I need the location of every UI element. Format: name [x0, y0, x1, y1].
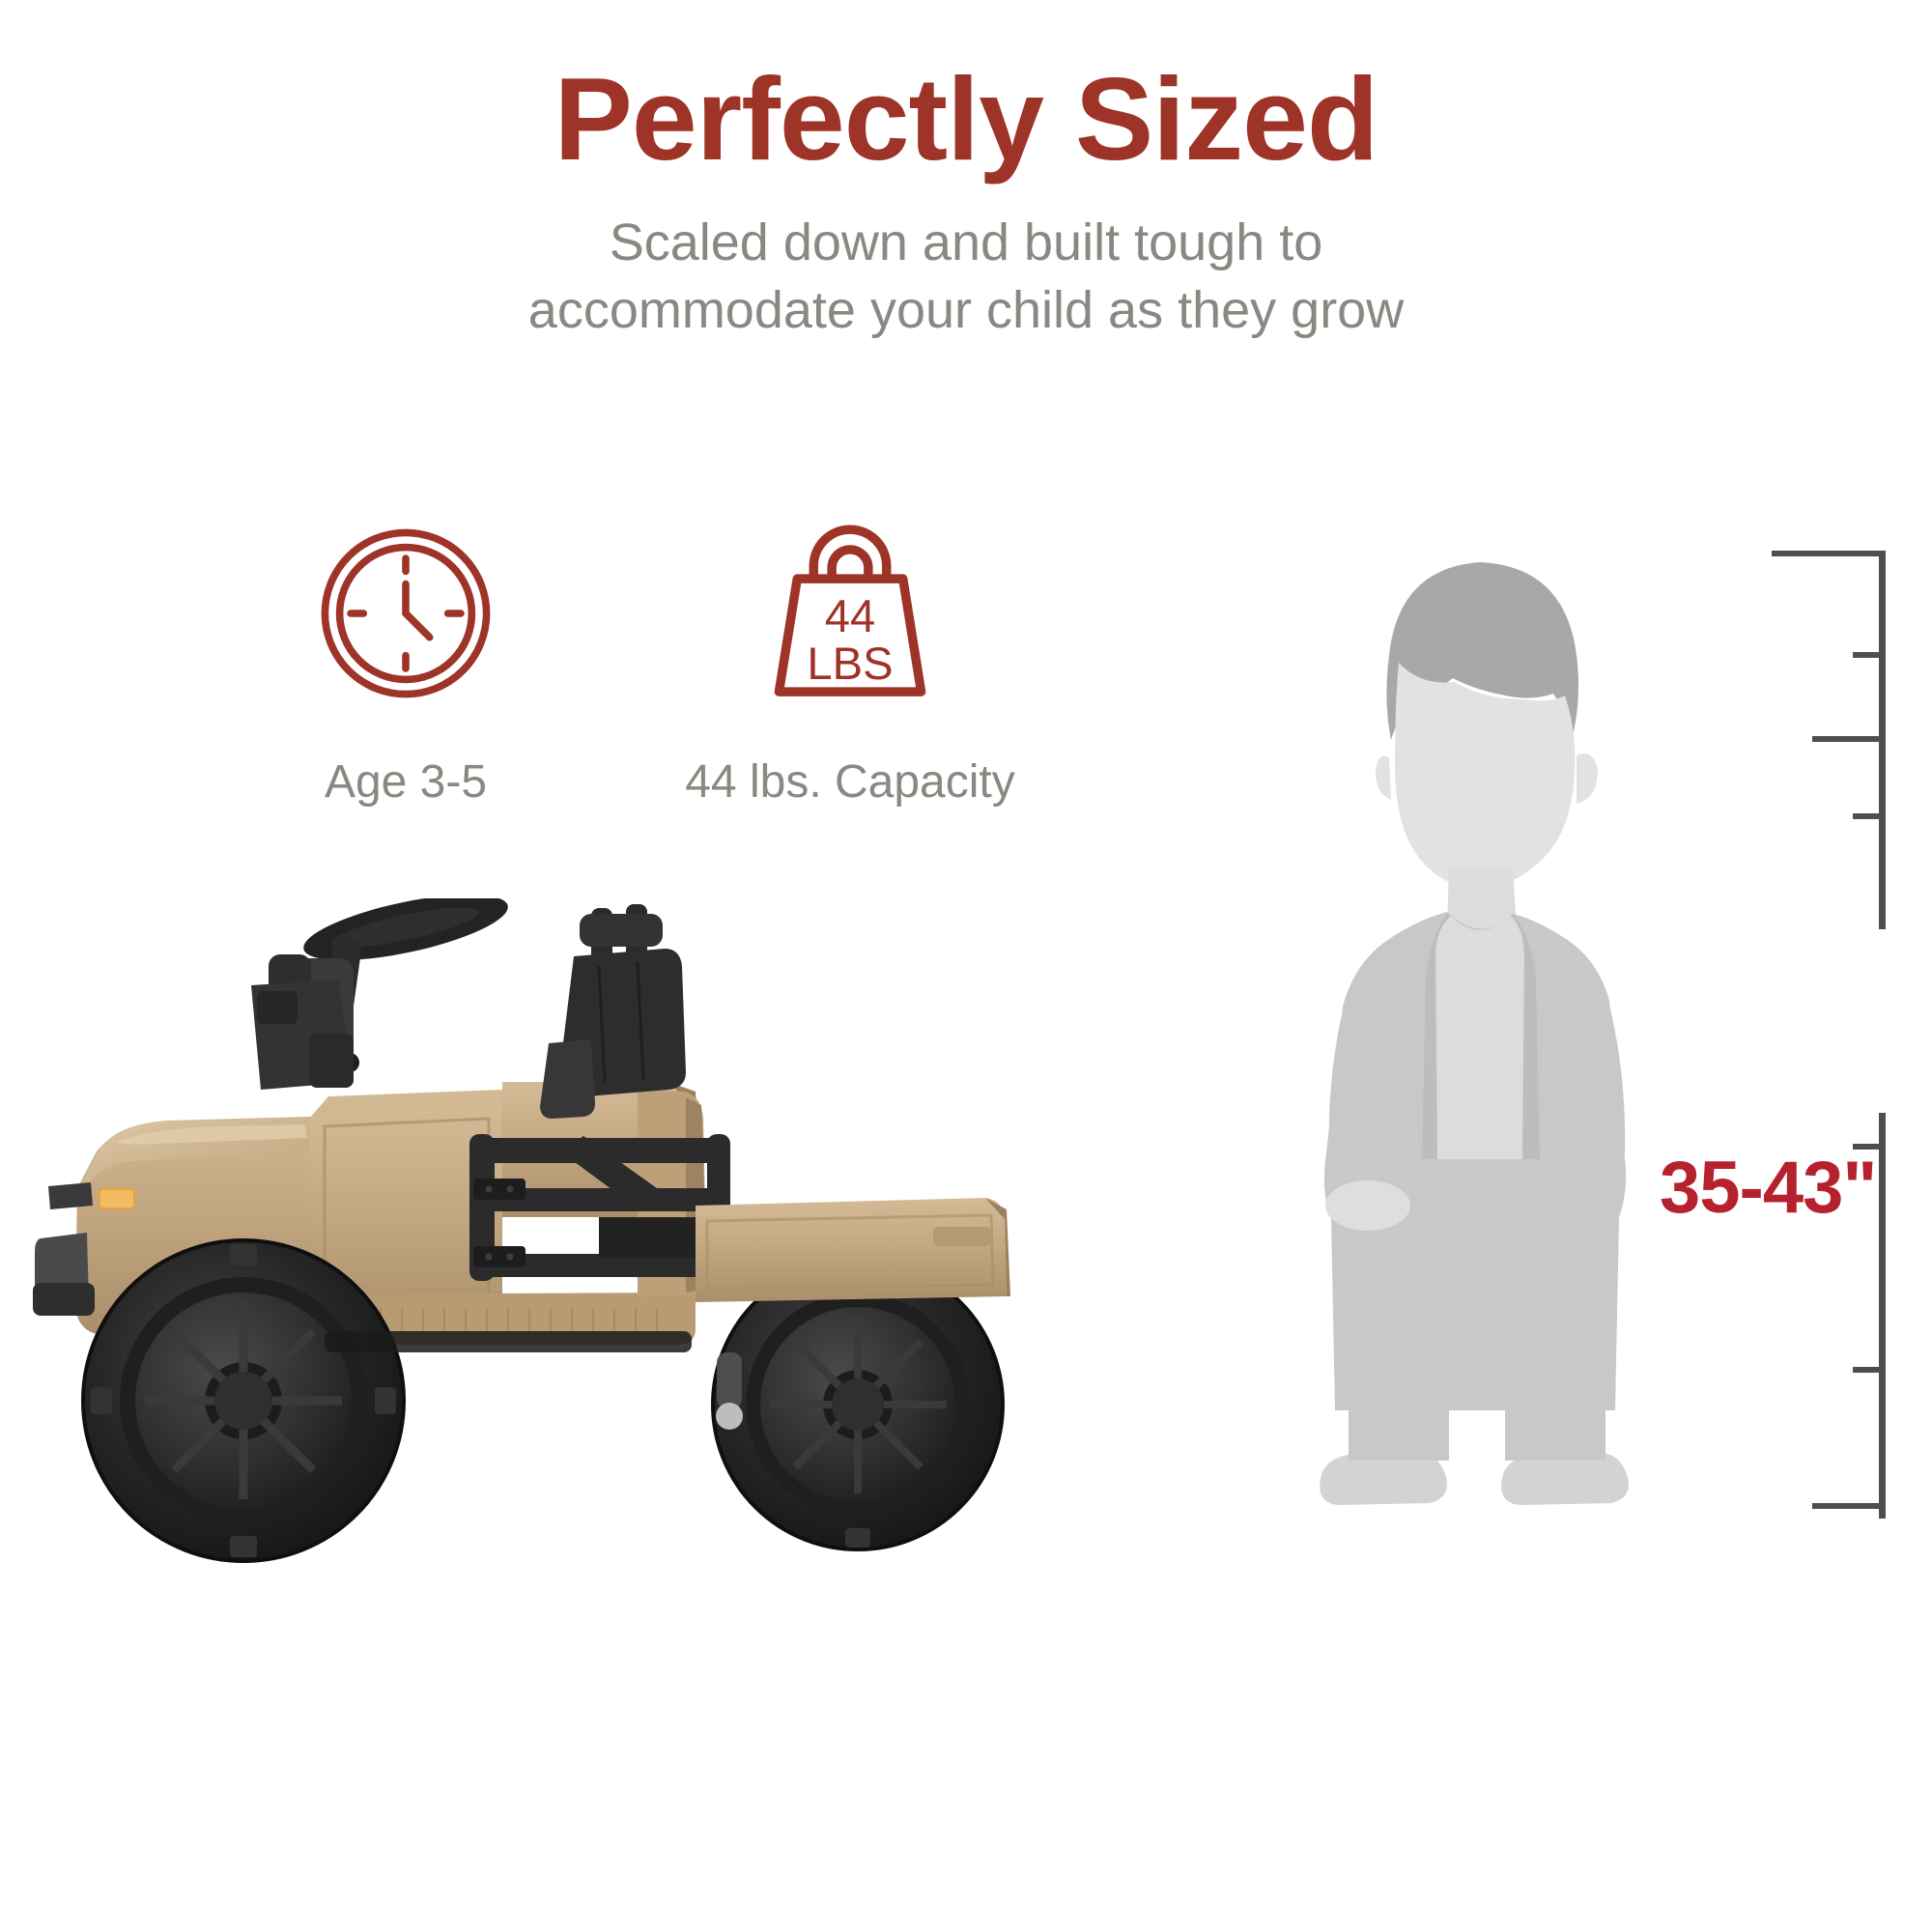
header: Perfectly Sized Scaled down and built to… — [0, 0, 1932, 344]
height-ruler — [1729, 551, 1922, 1517]
truck-roll-bar — [469, 1134, 730, 1281]
child-hand — [1325, 1180, 1410, 1231]
ruler-tick-2 — [1812, 736, 1886, 742]
feature-capacity: 44 LBS 44 lbs. Capacity — [638, 522, 1063, 809]
ruler-tick-5 — [1853, 1367, 1886, 1373]
height-measurement-label: 35-43" — [1660, 1146, 1876, 1230]
subtitle-line-1: Scaled down and built tough to — [0, 209, 1932, 276]
feature-age-label: Age 3-5 — [193, 755, 618, 809]
page-title: Perfectly Sized — [0, 60, 1932, 178]
truck-dashboard — [251, 980, 354, 1090]
weight-bag-icon: 44 LBS — [638, 522, 1063, 705]
ruler-axis-lower — [1879, 1113, 1886, 1519]
ruler-tick-1 — [1853, 652, 1886, 658]
child-left-shoe — [1320, 1453, 1447, 1505]
weight-bag-value: 44 — [825, 590, 875, 641]
weight-bag-unit: LBS — [807, 638, 893, 689]
feature-capacity-label: 44 lbs. Capacity — [638, 755, 1063, 809]
child-right-shoe — [1501, 1453, 1629, 1505]
ruler-tick-bottom — [1812, 1503, 1886, 1509]
ruler-tick-3 — [1853, 813, 1886, 819]
truck-rear-wheel — [713, 1260, 1003, 1549]
child-lower-body — [1275, 1352, 1681, 1526]
page-subtitle: Scaled down and built tough to accommoda… — [0, 209, 1932, 344]
product-image-ride-on-truck — [19, 898, 1072, 1575]
truck-seat — [540, 904, 686, 1119]
feature-age: Age 3-5 — [193, 522, 618, 809]
child-face — [1395, 663, 1575, 889]
truck-tailgate — [696, 1198, 1010, 1302]
truck-front-wheel — [83, 1240, 404, 1561]
subtitle-line-2: accommodate your child as they grow — [0, 276, 1932, 344]
ruler-tick-top — [1772, 551, 1886, 556]
child-shirt — [1435, 916, 1524, 1159]
clock-icon — [193, 522, 618, 705]
feature-list: Age 3-5 44 LBS 44 lbs. Capacity — [145, 522, 1111, 869]
